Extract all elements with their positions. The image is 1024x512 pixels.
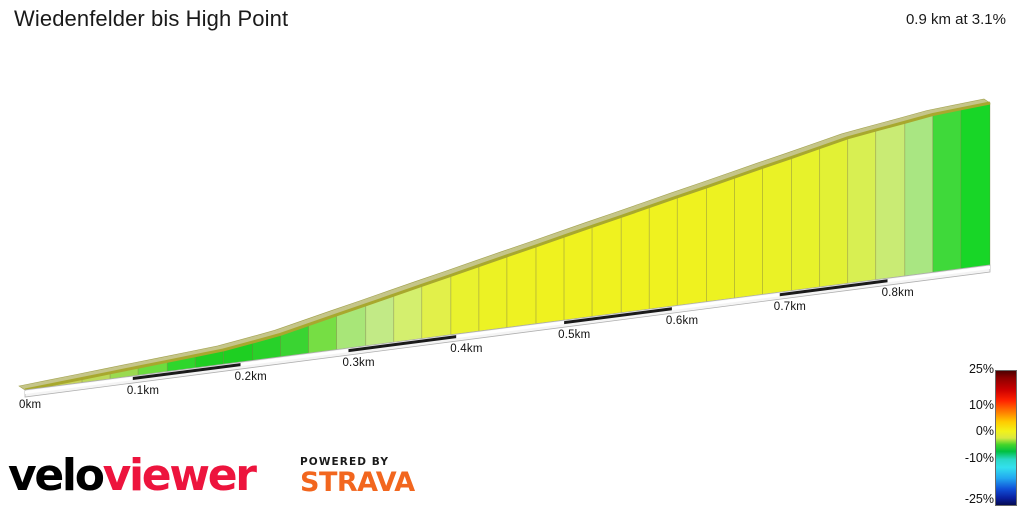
gradient-band [677,187,706,306]
distance-tick-label: 0.2km [235,371,267,383]
logo-velo: velo [8,450,103,501]
legend-tick-label: -10% [942,451,994,465]
gradient-band [649,197,677,309]
gradient-band [792,148,820,291]
distance-tick-label: 0.6km [666,315,698,327]
gradient-band [564,226,592,320]
distance-tick-label: 0.7km [774,301,806,313]
legend-tick-label: 25% [942,362,994,376]
gradient-band [706,177,734,302]
distance-tick-label: 0.8km [882,287,914,299]
powered-by-strava[interactable]: POWERED BY STRAVA [300,456,430,498]
logo-viewer: viewer [103,450,255,501]
veloviewer-logo[interactable]: veloviewer [8,448,255,504]
gradient-band [479,256,507,331]
gradient-band [933,109,961,273]
strava-wordmark: STRAVA [300,468,430,498]
gradient-legend: 25%10%0%-10%-25% [938,362,1024,512]
gradient-band [536,236,564,324]
gradient-bands [19,99,990,390]
gradient-colorbar [995,370,1017,506]
gradient-band [451,266,479,335]
legend-tick-label: 10% [942,398,994,412]
gradient-band [820,138,848,287]
gradient-band [734,167,762,298]
elevation-profile-chart [0,0,1024,512]
gradient-band [592,216,621,316]
legend-tick-label: 0% [942,424,994,438]
gradient-band [763,157,792,294]
elevation-profile-page: Wiedenfelder bis High Point 0.9 km at 3.… [0,0,1024,512]
gradient-band [507,246,536,328]
legend-tick-label: -25% [942,492,994,506]
gradient-band [876,122,905,280]
distance-tick-label: 0.1km [127,385,159,397]
distance-tick-label: 0km [19,399,41,411]
gradient-band [905,115,933,277]
veloviewer-wordmark: veloviewer [8,448,255,504]
gradient-band [961,103,990,269]
distance-tick-label: 0.3km [342,357,374,369]
distance-tick-label: 0.4km [450,343,482,355]
gradient-band [621,207,649,313]
gradient-band [848,130,876,283]
distance-tick-label: 0.5km [558,329,590,341]
